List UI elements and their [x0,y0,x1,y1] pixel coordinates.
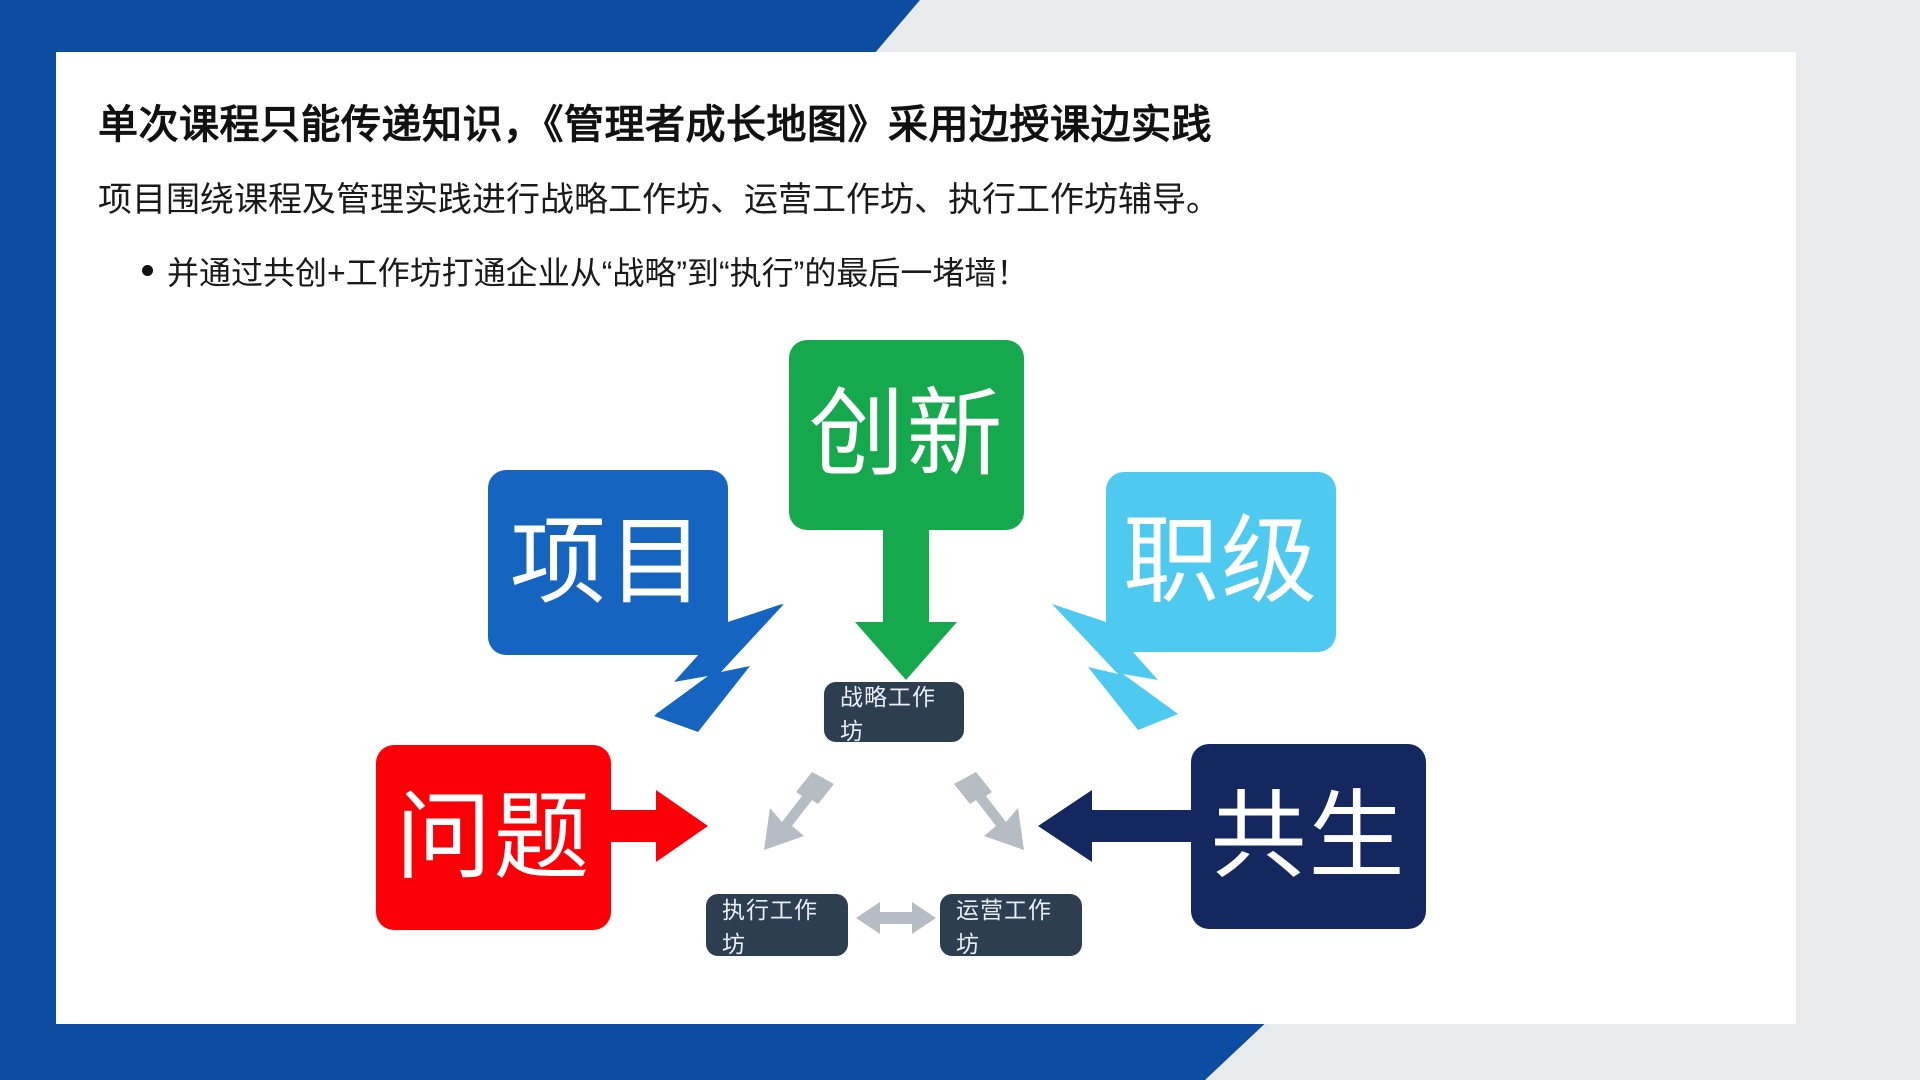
connector-strategy-execution [764,772,834,850]
diagram-node-project[interactable]: 项目 [488,470,728,655]
node-label: 项目 [510,515,706,611]
connector-execution-operation [856,902,936,934]
diagram-node-rank[interactable]: 职级 [1106,472,1336,652]
workshop-chip-operation[interactable]: 运营工作坊 [940,894,1082,956]
node-label: 共生 [1211,789,1407,885]
node-label: 创新 [809,387,1005,483]
workshop-chip-execution[interactable]: 执行工作坊 [706,894,848,956]
workshop-label: 运营工作坊 [956,891,1066,959]
arrow-symbiosis-to-operation [1038,790,1194,862]
workshop-diagram: 项目 创新 职级 问题 共生 战略工作坊 运营工作坊 执行工作坊 [56,322,1796,1022]
node-label: 职级 [1123,514,1319,610]
page-title: 单次课程只能传递知识，《管理者成长地图》采用边授课边实践 [98,92,1738,150]
slide-canvas: 单次课程只能传递知识，《管理者成长地图》采用边授课边实践 项目围绕课程及管理实践… [0,0,1920,1080]
content-card: 单次课程只能传递知识，《管理者成长地图》采用边授课边实践 项目围绕课程及管理实践… [56,52,1796,1024]
subtitle-text: 项目围绕课程及管理实践进行战略工作坊、运营工作坊、执行工作坊辅导。 [98,172,1738,221]
background-left-stripe [0,0,46,1080]
arrow-innovation-to-strategy [855,530,957,680]
workshop-chip-strategy[interactable]: 战略工作坊 [824,682,964,742]
diagram-node-problem[interactable]: 问题 [376,745,611,930]
diagram-node-symbiosis[interactable]: 共生 [1191,744,1426,929]
bullet-dot-icon [142,265,153,276]
bullet-text: 并通过共创+工作坊打通企业从“战略”到“执行”的最后一堵墙！ [167,248,1028,294]
connector-strategy-operation [954,772,1024,850]
workshop-label: 战略工作坊 [840,678,948,746]
arrow-problem-to-execution [609,790,708,862]
workshop-label: 执行工作坊 [722,891,832,959]
diagram-node-innovation[interactable]: 创新 [789,340,1024,530]
node-label: 问题 [396,790,592,886]
bullet-list-item: 并通过共创+工作坊打通企业从“战略”到“执行”的最后一堵墙！ [142,248,1028,294]
